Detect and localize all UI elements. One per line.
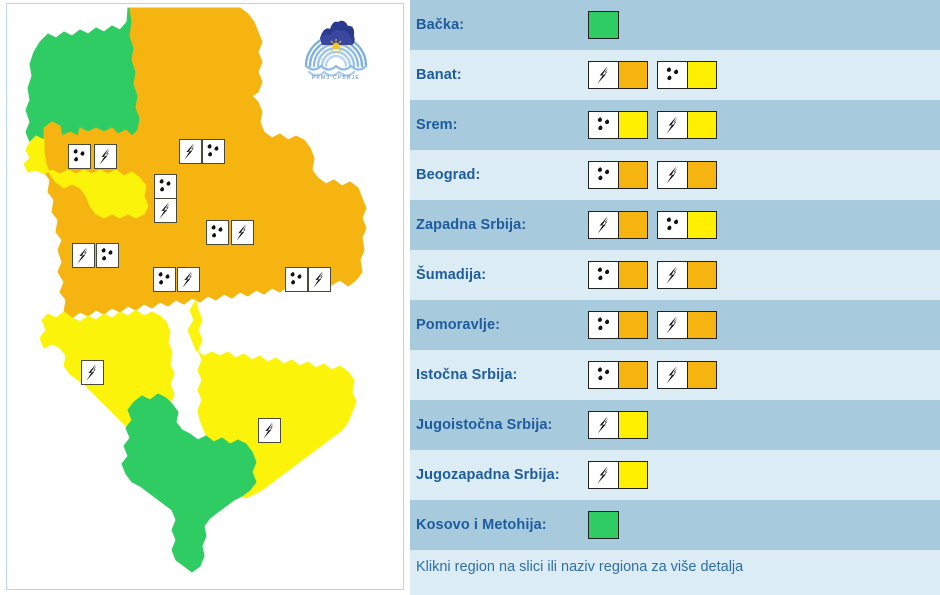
severity-swatch: [618, 412, 647, 438]
map-marker-jugozapadna-thunder[interactable]: [81, 360, 104, 385]
severity-swatch: [589, 512, 618, 538]
rain-icon: [203, 140, 224, 163]
severity-swatch: [589, 12, 618, 38]
thunderstorm-icon: [178, 268, 199, 291]
rain-icon: [593, 164, 615, 186]
thunderstorm-icon: [180, 140, 201, 163]
thunderstorm-icon-tile: [658, 262, 687, 288]
warning-badge[interactable]: [657, 211, 717, 239]
map-marker-srem-thunder[interactable]: [94, 144, 117, 169]
warning-table-panel: Bačka:Banat:Srem:Beograd:Zapadna Srbija:…: [410, 0, 940, 595]
rain-icon: [593, 364, 615, 386]
badge-group: [588, 111, 717, 139]
warning-row[interactable]: Kosovo i Metohija:: [410, 500, 940, 550]
rain-icon: [69, 145, 90, 168]
warning-row[interactable]: Pomoravlje:: [410, 300, 940, 350]
severity-swatch: [687, 362, 716, 388]
map-marker-sumadija-rain[interactable]: [206, 220, 229, 245]
warning-row[interactable]: Bačka:: [410, 0, 940, 50]
svg-text:РХМЗ СРБИЈЕ: РХМЗ СРБИЈЕ: [312, 75, 360, 81]
warning-row[interactable]: Banat:: [410, 50, 940, 100]
rain-icon: [593, 114, 615, 136]
warning-row[interactable]: Jugozapadna Srbija:: [410, 450, 940, 500]
warning-row[interactable]: Zapadna Srbija:: [410, 200, 940, 250]
thunderstorm-icon-tile: [658, 362, 687, 388]
map-marker-beograd-rain[interactable]: [154, 174, 177, 199]
thunderstorm-icon: [662, 364, 684, 386]
region-label[interactable]: Jugoistočna Srbija:: [416, 417, 588, 433]
thunderstorm-icon-tile: [658, 312, 687, 338]
map-marker-banat-rain[interactable]: [202, 139, 225, 164]
serbia-map[interactable]: [0, 0, 410, 595]
thunderstorm-icon-tile: [589, 412, 618, 438]
badge-group: [588, 11, 619, 39]
warning-badge[interactable]: [588, 311, 648, 339]
warning-badge[interactable]: [588, 161, 648, 189]
rain-icon-tile: [589, 112, 618, 138]
badge-group: [588, 61, 717, 89]
map-marker-sumadija-thunder[interactable]: [231, 220, 254, 245]
rhmz-logo: РХМЗ СРБИЈЕ: [300, 8, 372, 86]
warning-row[interactable]: Srem:: [410, 100, 940, 150]
thunderstorm-icon: [593, 214, 615, 236]
warning-badge[interactable]: [588, 511, 619, 539]
warning-row[interactable]: Beograd:: [410, 150, 940, 200]
thunderstorm-icon: [259, 419, 280, 442]
region-label[interactable]: Banat:: [416, 67, 588, 83]
severity-swatch: [618, 162, 647, 188]
warning-badge[interactable]: [588, 261, 648, 289]
region-label[interactable]: Beograd:: [416, 167, 588, 183]
rain-icon: [155, 175, 176, 198]
rain-icon-tile: [589, 262, 618, 288]
rain-icon: [286, 268, 307, 291]
map-marker-zapadna-rain[interactable]: [96, 243, 119, 268]
warning-row[interactable]: Jugoistočna Srbija:: [410, 400, 940, 450]
thunderstorm-icon: [593, 414, 615, 436]
map-region-backa[interactable]: [26, 8, 140, 142]
region-label[interactable]: Istočna Srbija:: [416, 367, 588, 383]
thunderstorm-icon-tile: [658, 112, 687, 138]
severity-swatch: [687, 262, 716, 288]
severity-swatch: [687, 162, 716, 188]
thunderstorm-icon: [662, 264, 684, 286]
map-marker-pomoravlje-rain[interactable]: [153, 267, 176, 292]
severity-swatch: [618, 62, 647, 88]
weather-warning-page: РХМЗ СРБИЈЕ Bačka:Banat:Srem:Beograd:Zap…: [0, 0, 940, 595]
map-marker-zapadna-thunder[interactable]: [72, 243, 95, 268]
thunderstorm-icon-tile: [589, 62, 618, 88]
map-marker-istocna-rain[interactable]: [285, 267, 308, 292]
map-marker-jugoistocna-thunder[interactable]: [258, 418, 281, 443]
warning-badge[interactable]: [588, 461, 648, 489]
map-marker-banat-thunder[interactable]: [179, 139, 202, 164]
region-label[interactable]: Jugozapadna Srbija:: [416, 467, 588, 483]
map-panel: РХМЗ СРБИЈЕ: [0, 0, 410, 595]
map-marker-pomoravlje-thunder[interactable]: [177, 267, 200, 292]
region-label[interactable]: Srem:: [416, 117, 588, 133]
warning-row[interactable]: Šumadija:: [410, 250, 940, 300]
severity-swatch: [618, 262, 647, 288]
warning-row[interactable]: Istočna Srbija:: [410, 350, 940, 400]
warning-badge[interactable]: [588, 111, 648, 139]
thunderstorm-icon: [662, 114, 684, 136]
footer-hint-text: Klikni region na slici ili naziv regiona…: [416, 559, 743, 575]
map-marker-istocna-thunder[interactable]: [308, 267, 331, 292]
rain-icon: [154, 268, 175, 291]
severity-swatch: [618, 312, 647, 338]
region-label[interactable]: Šumadija:: [416, 267, 588, 283]
thunderstorm-icon: [155, 199, 176, 222]
badge-group: [588, 511, 619, 539]
thunderstorm-icon: [82, 361, 103, 384]
badge-group: [588, 411, 648, 439]
warning-badge[interactable]: [657, 161, 717, 189]
map-marker-beograd-thunder[interactable]: [154, 198, 177, 223]
warning-badge[interactable]: [588, 61, 648, 89]
warning-badge[interactable]: [657, 111, 717, 139]
severity-swatch: [618, 362, 647, 388]
rain-icon: [593, 264, 615, 286]
severity-swatch: [618, 462, 647, 488]
severity-swatch: [618, 112, 647, 138]
warning-badge[interactable]: [588, 11, 619, 39]
warning-badge[interactable]: [588, 411, 648, 439]
severity-swatch: [687, 212, 716, 238]
warning-badge[interactable]: [657, 261, 717, 289]
badge-group: [588, 311, 717, 339]
rain-icon-tile: [658, 212, 687, 238]
footer-row: Klikni region na slici ili naziv regiona…: [410, 550, 940, 595]
rain-icon-tile: [658, 62, 687, 88]
rain-icon-tile: [589, 162, 618, 188]
severity-swatch: [687, 112, 716, 138]
thunderstorm-icon: [73, 244, 94, 267]
region-label[interactable]: Kosovo i Metohija:: [416, 517, 588, 533]
warning-badge[interactable]: [657, 61, 717, 89]
thunderstorm-icon: [232, 221, 253, 244]
severity-swatch: [687, 62, 716, 88]
rain-icon: [593, 314, 615, 336]
thunderstorm-icon: [309, 268, 330, 291]
thunderstorm-icon: [662, 314, 684, 336]
map-marker-srem-rain[interactable]: [68, 144, 91, 169]
thunderstorm-icon: [593, 464, 615, 486]
thunderstorm-icon-tile: [589, 462, 618, 488]
badge-group: [588, 211, 717, 239]
badge-group: [588, 261, 717, 289]
region-label[interactable]: Zapadna Srbija:: [416, 217, 588, 233]
thunderstorm-icon: [662, 164, 684, 186]
warning-rows: Bačka:Banat:Srem:Beograd:Zapadna Srbija:…: [410, 0, 940, 550]
warning-badge[interactable]: [588, 361, 648, 389]
badge-group: [588, 161, 717, 189]
warning-badge[interactable]: [588, 211, 648, 239]
thunderstorm-icon: [95, 145, 116, 168]
thunderstorm-icon-tile: [589, 212, 618, 238]
badge-group: [588, 461, 648, 489]
rain-icon: [662, 214, 684, 236]
warning-badge[interactable]: [657, 361, 717, 389]
rain-icon: [662, 64, 684, 86]
thunderstorm-icon-tile: [658, 162, 687, 188]
severity-swatch: [687, 312, 716, 338]
severity-swatch: [618, 212, 647, 238]
thunderstorm-icon: [593, 64, 615, 86]
warning-badge[interactable]: [657, 311, 717, 339]
region-label[interactable]: Bačka:: [416, 17, 588, 33]
region-label[interactable]: Pomoravlje:: [416, 317, 588, 333]
rain-icon: [207, 221, 228, 244]
badge-group: [588, 361, 717, 389]
rain-icon-tile: [589, 362, 618, 388]
rain-icon: [97, 244, 118, 267]
rain-icon-tile: [589, 312, 618, 338]
